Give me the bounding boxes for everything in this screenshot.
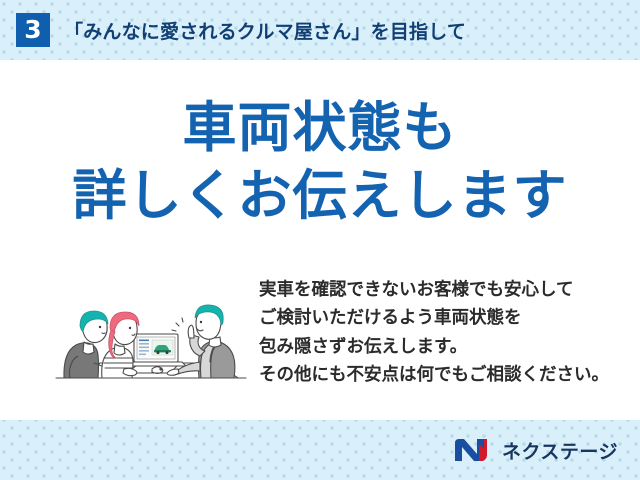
body-line-3: 包み隠さずお伝えします。 (259, 333, 640, 361)
advertisement-slide: 3 「みんなに愛されるクルマ屋さん」を目指して 車両状態も 詳しくお伝えします … (0, 0, 640, 480)
nextage-n-logo-icon (453, 437, 493, 463)
body-line-4: その他にも不安点は何でもご相談ください。 (259, 361, 640, 389)
headline-line-1: 車両状態も (0, 94, 640, 162)
footer-band: ネクステージ (0, 420, 640, 480)
headline: 車両状態も 詳しくお伝えします (0, 94, 640, 230)
lower-content-row: .ln { fill:none; stroke:#4a4a4a; stroke-… (0, 270, 640, 415)
consultation-illustration: .ln { fill:none; stroke:#4a4a4a; stroke-… (48, 270, 253, 405)
consultation-illustration-svg: .ln { fill:none; stroke:#4a4a4a; stroke-… (48, 270, 253, 405)
step-number-badge: 3 (16, 13, 50, 47)
body-copy: 実車を確認できないお客様でも安心して ご検討いただけるよう車両状態を 包み隠さず… (259, 270, 640, 389)
brand-logo: ネクステージ (453, 437, 618, 464)
content-panel: 車両状態も 詳しくお伝えします .ln { fill:none; stroke:… (0, 60, 640, 420)
header-title: 「みんなに愛されるクルマ屋さん」を目指して (64, 17, 466, 44)
brand-name: ネクステージ (502, 437, 618, 464)
headline-line-2: 詳しくお伝えします (0, 162, 640, 230)
header-band: 3 「みんなに愛されるクルマ屋さん」を目指して (0, 0, 640, 60)
body-line-1: 実車を確認できないお客様でも安心して (259, 276, 640, 304)
body-line-2: ご検討いただけるよう車両状態を (259, 304, 640, 332)
